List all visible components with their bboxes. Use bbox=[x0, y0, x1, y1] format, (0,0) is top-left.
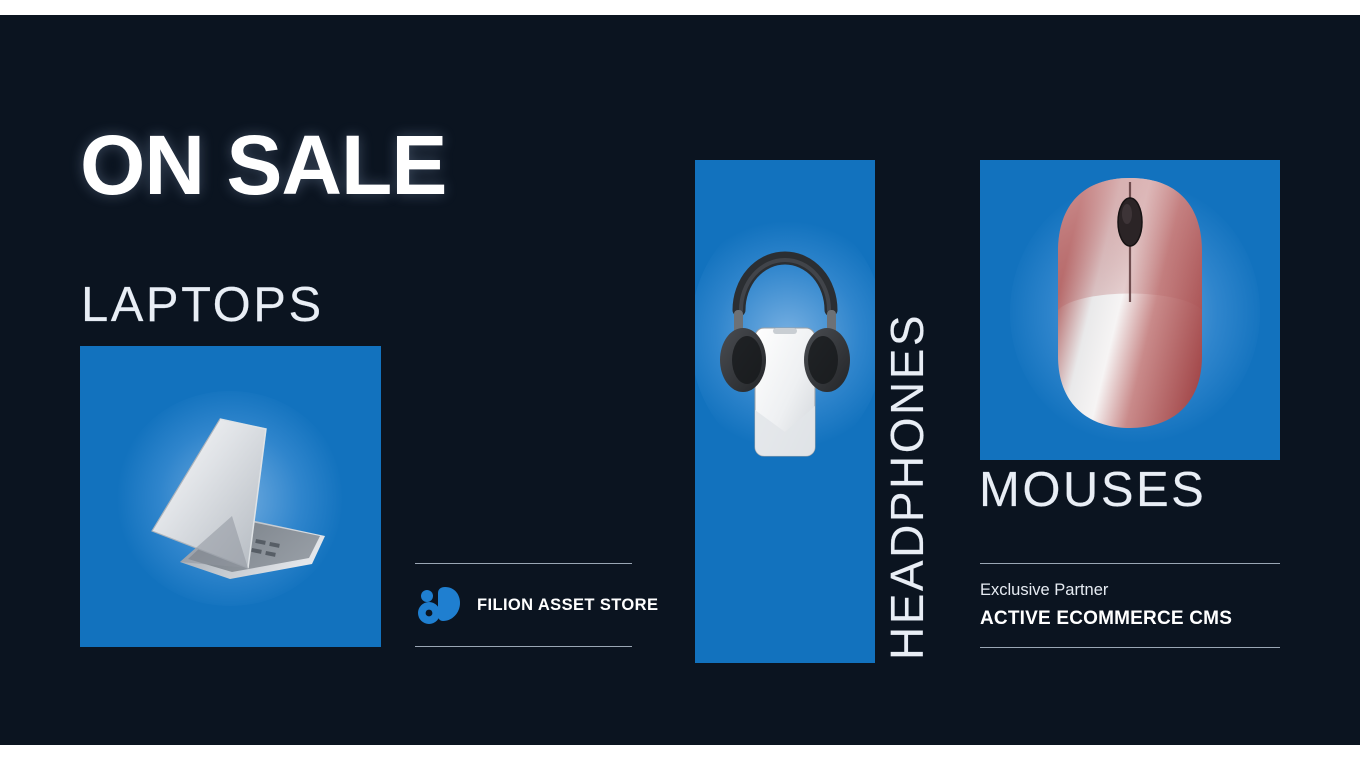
computer-mouse-icon bbox=[980, 160, 1280, 460]
partner-block: Exclusive Partner ACTIVE ECOMMERCE CMS bbox=[980, 563, 1280, 648]
category-label-mouses: MOUSES bbox=[979, 462, 1206, 518]
divider-top bbox=[980, 563, 1280, 564]
product-panel-mouses[interactable] bbox=[980, 160, 1280, 460]
divider-bottom bbox=[980, 647, 1280, 648]
laptop-icon bbox=[80, 346, 381, 647]
brand-logo-block: FILION ASSET STORE bbox=[415, 563, 632, 647]
partner-name: ACTIVE ECOMMERCE CMS bbox=[980, 608, 1232, 630]
product-panel-headphones[interactable] bbox=[695, 160, 875, 663]
product-panel-laptops[interactable] bbox=[80, 346, 381, 647]
partner-label: Exclusive Partner bbox=[980, 581, 1108, 600]
promo-slide: ON SALE LAPTOPS bbox=[0, 15, 1360, 745]
brand-logo-row[interactable]: FILION ASSET STORE bbox=[415, 579, 658, 631]
divider-top bbox=[415, 563, 632, 564]
category-label-headphones-wrapper: HEADPHONES bbox=[880, 313, 934, 660]
brand-logo-text: FILION ASSET STORE bbox=[477, 596, 658, 615]
divider-bottom bbox=[415, 646, 632, 647]
filion-droplet-logo-icon bbox=[415, 581, 463, 629]
slide-frame: ON SALE LAPTOPS bbox=[0, 0, 1360, 780]
page-title: ON SALE bbox=[80, 123, 446, 207]
headphones-phone-icon bbox=[695, 160, 875, 663]
category-label-headphones: HEADPHONES bbox=[880, 313, 934, 660]
category-label-laptops: LAPTOPS bbox=[81, 277, 324, 333]
